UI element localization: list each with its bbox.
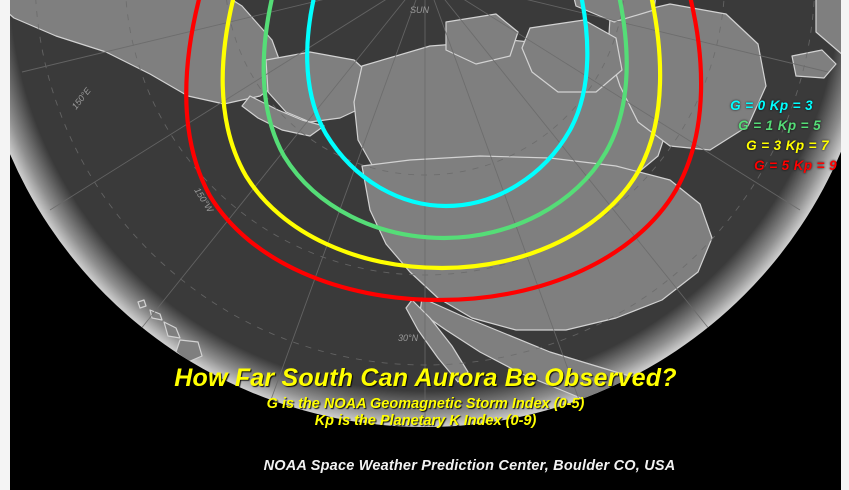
left-border-strip xyxy=(0,0,10,490)
legend-entry-g1: G = 1 Kp = 5 xyxy=(730,116,821,136)
storm-level-legend: G = 0 Kp = 3 G = 1 Kp = 5 G = 3 Kp = 7 G… xyxy=(730,96,827,176)
land-puerto-rico xyxy=(796,444,820,456)
label-30n: 30°N xyxy=(398,333,419,343)
subtitle-kp-index: Kp is the Planetary K Index (0-9) xyxy=(10,413,841,430)
right-border-strip xyxy=(841,0,849,490)
legend-entry-g5: G = 5 Kp = 9 xyxy=(730,156,837,176)
land-hawaii xyxy=(138,300,146,308)
aurora-map-figure: SUN 150°W 150°E 30°N xyxy=(0,0,849,490)
credit-line: NOAA Space Weather Prediction Center, Bo… xyxy=(10,458,841,474)
legend-entry-g0: G = 0 Kp = 3 xyxy=(730,96,813,116)
sky-background: SUN 150°W 150°E 30°N xyxy=(10,0,841,490)
label-sun: SUN xyxy=(410,5,430,15)
legend-entry-g3: G = 3 Kp = 7 xyxy=(730,136,829,156)
page-title: How Far South Can Aurora Be Observed? xyxy=(10,364,841,393)
title-block: How Far South Can Aurora Be Observed? G … xyxy=(10,364,841,430)
subtitle-g-index: G is the NOAA Geomagnetic Storm Index (0… xyxy=(10,396,841,413)
